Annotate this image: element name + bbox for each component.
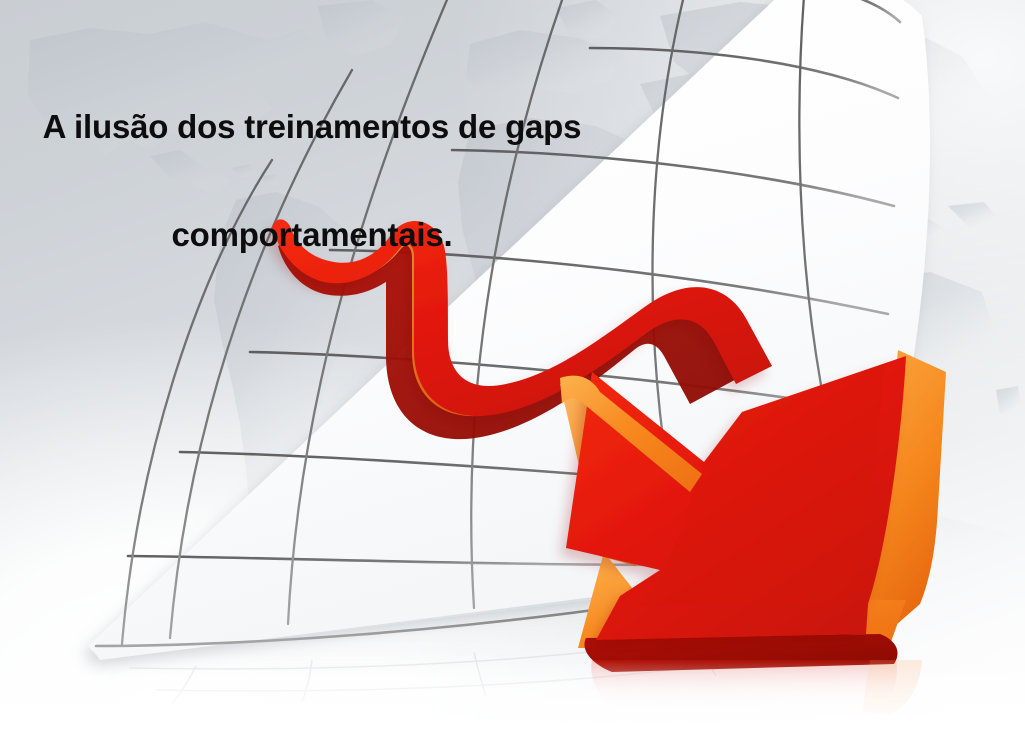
page-title: A ilusão dos treinamentos de gaps compor…: [12, 46, 612, 316]
arrow-reflection: [591, 660, 922, 716]
title-line-2: comportamentais.: [12, 208, 612, 262]
arrow-head: [560, 350, 946, 672]
slide-canvas: A ilusão dos treinamentos de gaps compor…: [0, 0, 1025, 730]
title-line-1: A ilusão dos treinamentos de gaps: [12, 100, 612, 154]
